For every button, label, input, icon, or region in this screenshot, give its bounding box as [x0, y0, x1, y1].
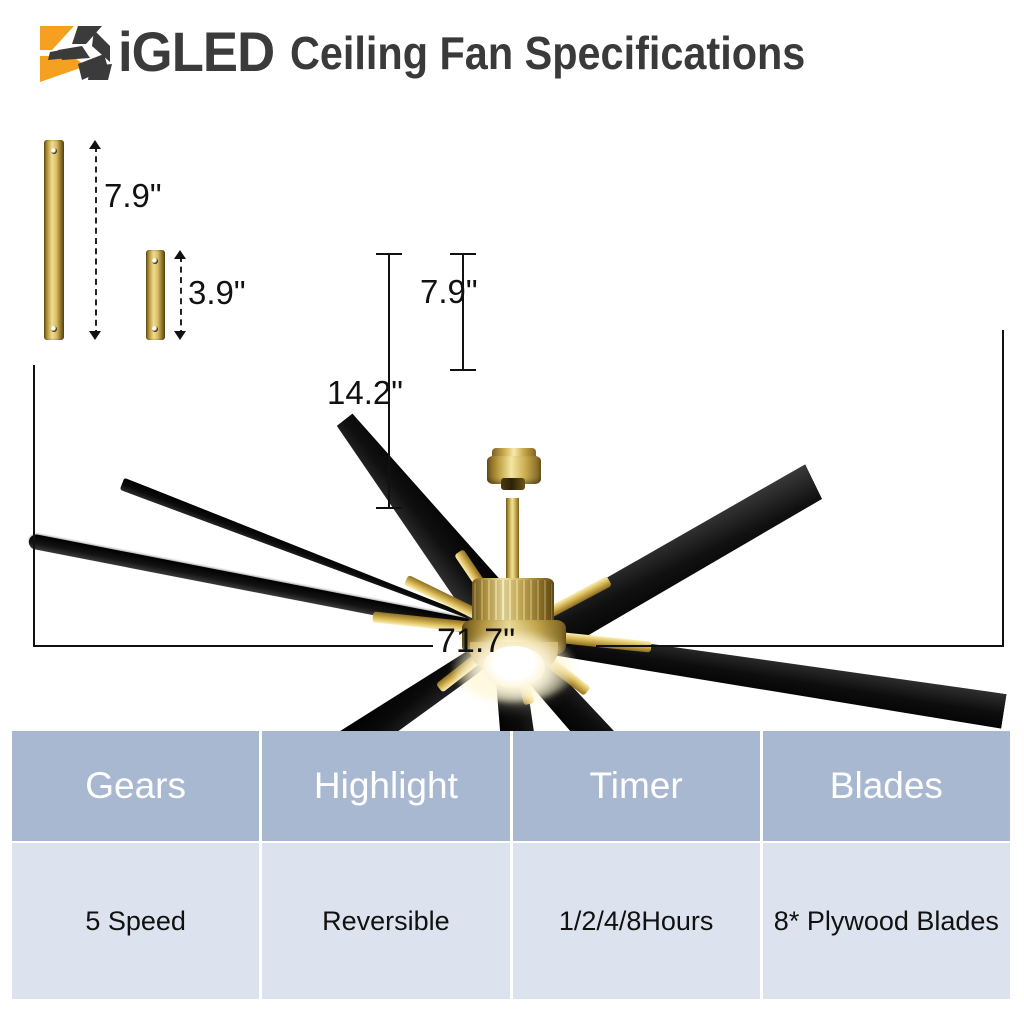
spec-table-header-row: Gears Highlight Timer Blades: [12, 731, 1010, 841]
dimension-label-fan-width: 71.7": [437, 622, 515, 661]
spec-value-blades: 8* Plywood Blades: [763, 843, 1010, 999]
spec-table: Gears Highlight Timer Blades 5 Speed Rev…: [12, 731, 1010, 999]
spec-value-highlight: Reversible: [262, 843, 512, 999]
spec-table-value-row: 5 Speed Reversible 1/2/4/8Hours 8* Plywo…: [12, 841, 1010, 999]
spec-header-timer: Timer: [513, 731, 763, 841]
spec-header-gears: Gears: [12, 731, 262, 841]
brand-logo-text: iGLED: [118, 20, 274, 84]
spec-header-blades: Blades: [763, 731, 1010, 841]
header: iGLED Ceiling Fan Specifications: [0, 0, 1024, 110]
spec-value-gears: 5 Speed: [12, 843, 262, 999]
spec-value-timer: 1/2/4/8Hours: [513, 843, 763, 999]
shutter-aperture-logo-icon: [38, 24, 126, 84]
ceiling-fan-illustration: [0, 180, 1024, 680]
dimension-label-canopy-drop: 7.9": [420, 273, 478, 311]
spec-header-highlight: Highlight: [262, 731, 512, 841]
page-title: Ceiling Fan Specifications: [290, 24, 805, 82]
brand-logo: iGLED: [38, 20, 278, 86]
spec-sheet-page: iGLED Ceiling Fan Specifications 7.9" 3.…: [0, 0, 1024, 1024]
dimension-label-fan-height: 14.2": [327, 374, 403, 412]
